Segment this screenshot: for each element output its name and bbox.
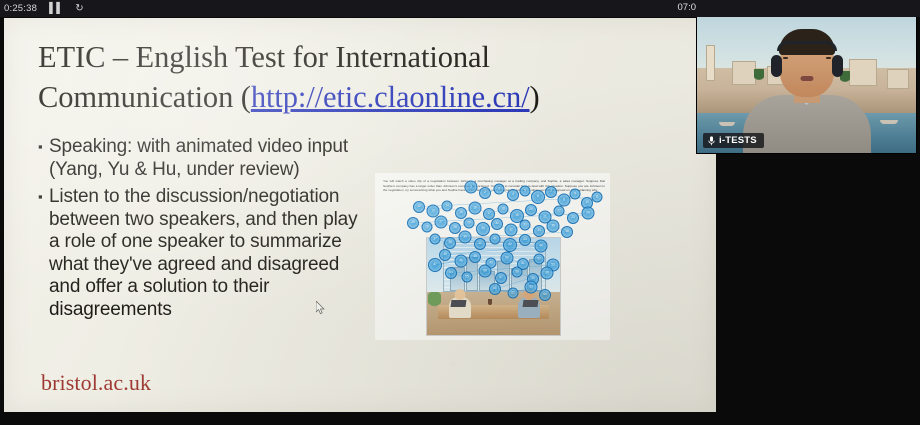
participant-eye (783, 57, 788, 59)
bullet-marker-icon: ▪ (38, 136, 49, 158)
bullet-marker-icon: ▪ (38, 186, 49, 208)
participant-mouth (800, 76, 813, 81)
headphone-earcup-left-icon (771, 55, 782, 77)
bullet-text-speaking: Speaking: with animated video input (Yan… (49, 136, 360, 181)
headphone-earcup-right-icon (832, 55, 843, 77)
microphone-icon (708, 136, 715, 146)
bullet-text-listening: Listen to the discussion/negotiation bet… (49, 186, 360, 321)
webcam-video-panel[interactable]: i-TESTS (697, 11, 916, 153)
participant-name-label: i-TESTS (719, 135, 757, 146)
pause-icon[interactable]: ▌▌ (49, 4, 63, 14)
presentation-slide: ETIC – English Test for International Co… (4, 18, 716, 412)
webcam-boat (880, 120, 898, 124)
webcam-building (887, 69, 909, 89)
slide-title: ETIC – English Test for International Co… (38, 38, 678, 118)
slide-bullet-list: ▪ Speaking: with animated video input (Y… (38, 136, 360, 326)
loop-icon[interactable]: ↻ (75, 4, 83, 14)
webcam-boat (719, 122, 735, 126)
participant-eye (826, 57, 831, 59)
webcam-minaret (706, 45, 715, 81)
slide-title-line2-prefix: Communication ( (38, 80, 251, 114)
list-item: ▪ Listen to the discussion/negotiation b… (38, 186, 360, 321)
headphone-band-icon (777, 41, 837, 51)
video-player-bar: 0:25:38 ▌▌ ↻ 07:0 (0, 0, 920, 17)
elapsed-time-label: 0:25:38 (4, 3, 37, 14)
gaze-path-lines (375, 173, 610, 340)
slide-title-line2-suffix: ) (530, 80, 540, 114)
bristol-brand-footer: bristol.ac.uk (41, 370, 151, 396)
list-item: ▪ Speaking: with animated video input (Y… (38, 136, 360, 181)
slide-title-line1: ETIC – English Test for International (38, 40, 490, 74)
etic-website-link[interactable]: http://etic.claonline.cn/ (251, 80, 530, 114)
mouse-cursor-icon (316, 301, 325, 314)
screen-recording-frame: 0:25:38 ▌▌ ↻ 07:0 ETIC – English Test fo… (0, 0, 920, 425)
clock-time-label: 07:0 (678, 2, 697, 13)
eye-tracking-scanpath-screenshot: You will watch a video clip of a negotia… (375, 173, 610, 340)
participant-nameplate: i-TESTS (703, 133, 764, 148)
